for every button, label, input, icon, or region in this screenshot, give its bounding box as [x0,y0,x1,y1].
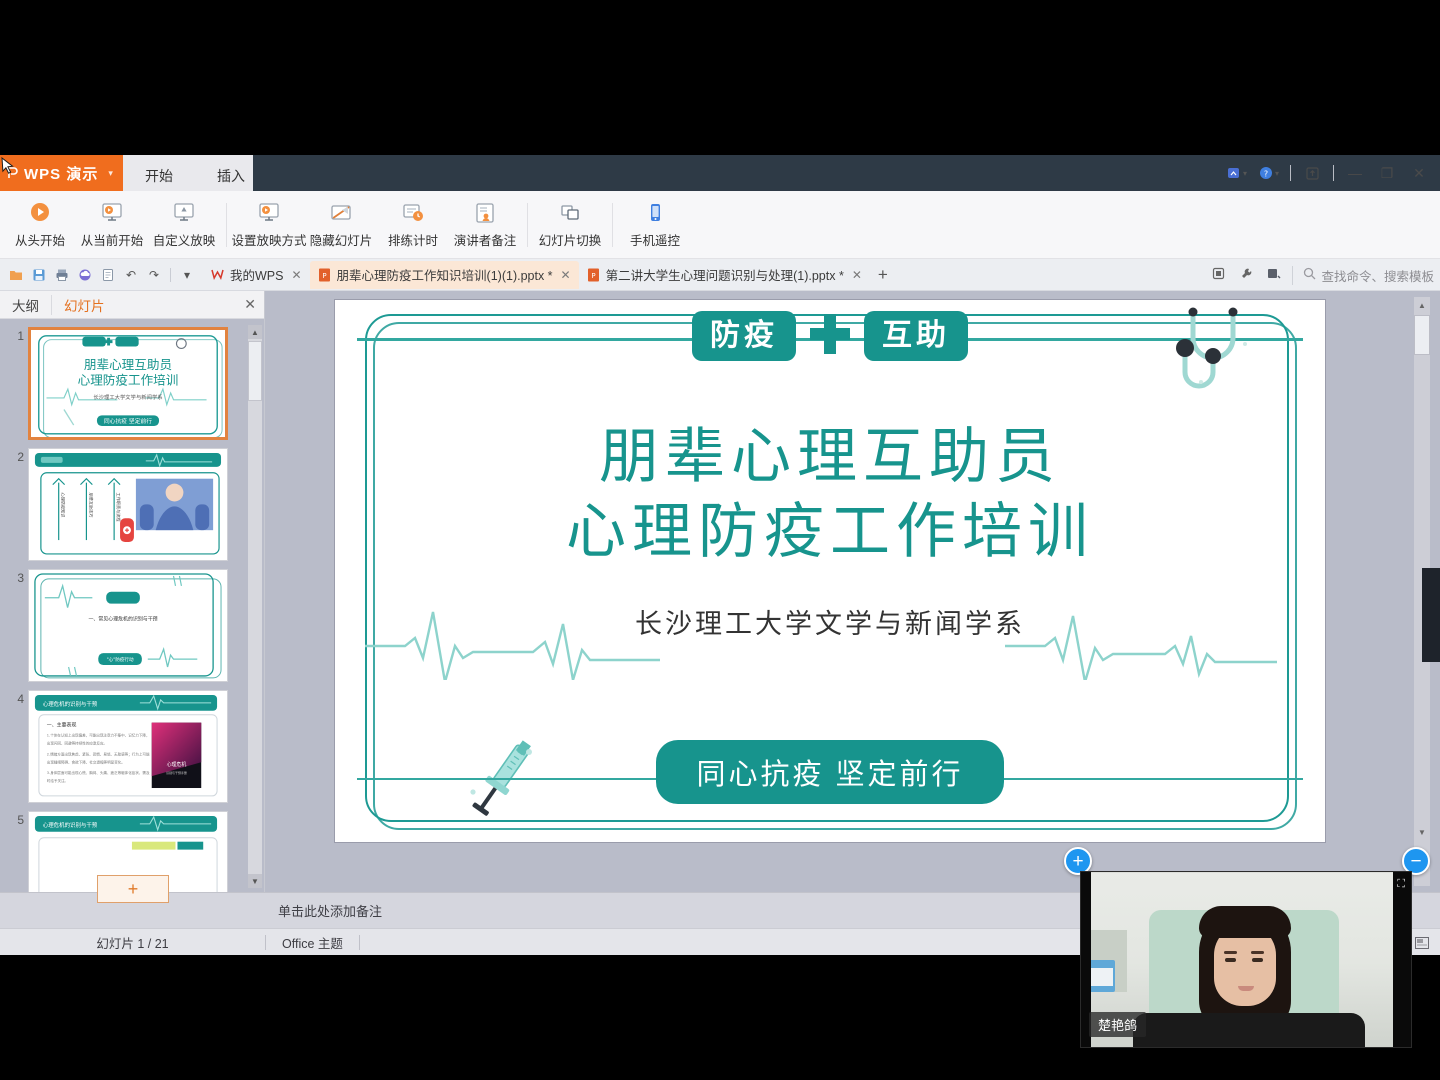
thumbnail-slide-1[interactable]: 朋辈心理互助员 心理防疫工作培训 长沙理工大学文学与新闻学系 同心抗疫 坚定前行 [28,327,228,440]
ribbon-button-hide-slide[interactable]: 隐藏幻灯片 [305,193,377,257]
tab-file-1-label: 朋辈心理防疫工作知识培训(1)(1).pptx * [337,265,553,284]
tab-slides[interactable]: 幻灯片 [51,295,117,315]
wps-presentation-window: WPS 演示 ▾ 开始 插入 ▾ ? ▾ [0,155,1440,923]
participant-video-tile[interactable]: ⛶ 楚艳鸽 [1080,871,1412,1048]
svg-text:心理危机的识别与干预: 心理危机的识别与干预 [43,700,98,708]
restore-icon[interactable]: ❐ [1372,158,1402,188]
ribbon-button-slide-transition[interactable]: 幻灯片切换 [534,193,606,257]
thumbnail-number: 1 [10,327,28,343]
pptx-file-icon: P [587,268,600,282]
background-box-label [1091,968,1113,986]
ribbon-label-custom-show: 自定义放映 [153,230,216,249]
open-icon[interactable] [6,264,26,286]
ribbon-label-from-start: 从头开始 [15,230,65,249]
close-icon[interactable]: ✕ [291,268,301,282]
svg-text:出现闪回、回避等持续性的应激反应。: 出现闪回、回避等持续性的应激反应。 [47,740,107,745]
tab-insert[interactable]: 插入 [195,161,253,191]
ribbon-button-custom-show[interactable]: 自定义放映 [148,193,220,257]
navigator-tabs: 大纲 幻灯片 ✕ [0,291,264,319]
notes-placeholder[interactable]: 单击此处添加备注 [278,901,382,920]
save-icon[interactable] [29,264,49,286]
ribbon-button-rehearse-timing[interactable]: 排练计时 [377,193,449,257]
cloud-icon[interactable] [75,264,95,286]
slide-title-line1: 朋辈心理互助员 [335,420,1325,495]
thumbnail-art-2: 心理防疫知识 朋辈互助技巧 工作职责与流程 [29,449,227,561]
phone-remote-icon [643,200,667,226]
desktop-right-band [1422,568,1440,662]
svg-text:出现睡眠障碍、食欲下降、社交退缩等明显变化。: 出现睡眠障碍、食欲下降、社交退缩等明显变化。 [47,759,125,764]
eyebrow-left [1224,951,1237,954]
ribbon-label-slide-transition: 幻灯片切换 [539,230,602,249]
slide-transition-icon [558,200,582,226]
slide-editing-stage[interactable]: 防疫 互助 [265,291,1440,892]
ribbon-label-phone-remote: 手机遥控 [630,230,680,249]
redo-icon[interactable]: ↷ [144,264,164,286]
minimize-icon[interactable]: — [1340,158,1370,188]
thumbnail-slide-3[interactable]: 一、常见心理危机的识别与干预 "心"防疫行动 [28,569,228,682]
svg-text:3.身体层面可能出现心慌、胸闷、头痛、疲乏等躯体化症状，需及: 3.身体层面可能出现心慌、胸闷、头痛、疲乏等躯体化症状，需及 [47,770,150,775]
mouse-cursor-icon [1,157,14,176]
rehearse-timing-icon [401,200,425,226]
print-icon[interactable] [52,264,72,286]
tab-file-2[interactable]: P 第二讲大学生心理问题识别与处理(1).pptx * ✕ [579,261,870,289]
scroll-down-button[interactable]: ▼ [248,874,262,888]
tab-my-wps-label: 我的WPS [230,265,283,284]
custom-show-icon [172,200,196,226]
play-from-current-icon [100,200,124,226]
tab-file-2-label: 第二讲大学生心理问题识别与处理(1).pptx * [606,265,844,284]
thumbnail-scrollbar[interactable]: ▲ ▼ [248,325,262,888]
eye-right [1252,958,1263,962]
svg-text:心理防疫工作培训: 心理防疫工作培训 [78,372,179,387]
svg-text:长沙理工大学文学与新闻学系: 长沙理工大学文学与新闻学系 [93,393,162,401]
thumbnails: 1 朋辈心理互助员 心理防疫工作培训 [0,327,264,892]
tab-outline[interactable]: 大纲 [0,295,51,315]
chip-huzhu: 互助 [864,311,968,361]
thumbnail-number: 2 [10,448,28,464]
thumbnail-slide-2[interactable]: 心理防疫知识 朋辈互助技巧 工作职责与流程 [28,448,228,561]
bottom-banner: 同心抗疫 坚定前行 [335,740,1325,804]
ribbon-button-setup-show[interactable]: 设置放映方式 [233,193,305,257]
letterbox-top [0,0,1440,155]
app-name: WPS 演示 [24,163,98,184]
ribbon-button-phone-remote[interactable]: 手机遥控 [619,193,691,257]
ribbon-label-hide-slide: 隐藏幻灯片 [310,230,373,249]
ribbon-label-presenter-notes: 演讲者备注 [454,230,517,249]
doc-tools-icon[interactable] [1264,267,1284,283]
svg-text:2.情绪方面出现焦虑、紧张、恐惧、易怒、无助感等；行为上可能: 2.情绪方面出现焦虑、紧张、恐惧、易怒、无助感等；行为上可能 [47,751,150,756]
svg-text:同心抗疫 坚定前行: 同心抗疫 坚定前行 [104,417,152,425]
stage-scrollbar-thumb[interactable] [1414,315,1430,355]
participant-shoulders [1133,1013,1365,1047]
theme-name[interactable]: Office 主题 [266,933,359,952]
hair-front [1199,906,1291,938]
thumbnail-art-4: 心理危机的识别与干预 一、主要表现 1.个体在认知上出现偏差，可能出现注意力不集… [29,691,227,803]
slide-title-line2: 心理防疫工作培训 [335,495,1325,570]
search-placeholder: 查找命令、搜索模板 [1321,266,1434,285]
thumbnail-item[interactable]: 4 心理危机的识别与干预 一、主要表现 [10,690,264,803]
tools-icon[interactable] [1236,267,1256,283]
chip-fangyi: 防疫 [692,311,796,361]
qat-divider [170,268,171,282]
scroll-up-button[interactable]: ▲ [248,325,262,339]
thumbnail-art-1: 朋辈心理互助员 心理防疫工作培训 长沙理工大学文学与新闻学系 同心抗疫 坚定前行 [31,330,225,440]
thumbnail-item[interactable]: 1 朋辈心理互助员 心理防疫工作培训 [10,327,264,440]
svg-text:朋辈心理互助员: 朋辈心理互助员 [84,357,172,372]
ribbon-label-from-current: 从当前开始 [81,230,144,249]
title-bar-left: WPS 演示 ▾ 开始 插入 [0,155,126,191]
status-divider-2 [359,935,360,950]
qat-caret-icon[interactable]: ▾ [177,264,197,286]
close-icon[interactable]: ✕ [852,268,862,282]
tab-start[interactable]: 开始 [123,161,195,191]
hide-slide-icon [329,200,353,226]
reading-view-icon[interactable] [1410,933,1434,953]
undo-icon[interactable]: ↶ [121,264,141,286]
play-icon [28,200,52,226]
help-icon[interactable]: ? ▾ [1254,158,1284,188]
svg-text:P: P [591,272,595,280]
close-icon[interactable]: ✕ [244,296,256,313]
svg-text:心理危机: 心理危机 [167,761,187,768]
thumbnail-slide-4[interactable]: 心理危机的识别与干预 一、主要表现 1.个体在认知上出现偏差，可能出现注意力不集… [28,690,228,803]
thumbnail-item[interactable]: 3 一、常见心理危机的识别与干预 " [10,569,264,682]
export-pdf-icon[interactable] [98,264,118,286]
svg-text:"心"防疫行动: "心"防疫行动 [107,656,134,663]
current-slide[interactable]: 防疫 互助 [335,300,1325,842]
stage-scroll-down-button[interactable]: ▼ [1414,824,1430,840]
svg-text:?: ? [1264,169,1268,178]
ribbon-label-setup-show: 设置放映方式 [232,230,307,249]
svg-text:1.个体在认知上出现偏差，可能出现注意力不集中、记忆力下降，: 1.个体在认知上出现偏差，可能出现注意力不集中、记忆力下降， [47,733,150,738]
video-letterbox-right [1393,872,1411,1047]
svg-text:一、主要表现: 一、主要表现 [47,722,77,729]
new-tab-button[interactable]: + [870,265,896,285]
thumbnail-art-3: 一、常见心理危机的识别与干预 "心"防疫行动 [29,570,227,682]
workspace: 大纲 幻灯片 ✕ 1 [0,291,1440,892]
slide-counter: 幻灯片 1 / 21 [0,933,265,952]
svg-text:P: P [322,272,326,280]
expand-icon[interactable]: ⛶ [1397,878,1405,891]
banner-text[interactable]: 同心抗疫 坚定前行 [656,740,1003,804]
backup-icon[interactable] [1208,267,1228,283]
mouth [1238,986,1254,991]
thumbnail-number: 3 [10,569,28,585]
ribbon-divider-3 [612,203,613,247]
svg-text:心理危机的识别与干预: 心理危机的识别与干预 [43,821,98,829]
window-controls: ▾ ? ▾ — ❐ ✕ [1222,155,1440,191]
close-icon[interactable]: ✕ [561,268,571,282]
eye-left [1225,958,1236,962]
thumbnail-number: 4 [10,690,28,706]
app-menu-caret-icon[interactable]: ▾ [108,168,114,179]
stethoscope-icon [1167,306,1263,416]
upload-icon[interactable] [1297,158,1327,188]
screen-root: WPS 演示 ▾ 开始 插入 ▾ ? ▾ [0,0,1440,1080]
thumbnail-item[interactable]: 2 [10,448,264,561]
ribbon-toolbar: 从头开始 从当前开始 自定义放映 设置放映方式 [0,191,1440,259]
ribbon-label-rehearse-timing: 排练计时 [388,230,438,249]
share-icon[interactable]: ▾ [1222,158,1252,188]
ribbon-button-from-current[interactable]: 从当前开始 [76,193,148,257]
search-icon [1303,267,1316,283]
setup-show-icon [257,200,281,226]
ribbon-divider-1 [226,203,227,247]
eyebrow-right [1251,951,1264,954]
scrollbar-thumb[interactable] [248,341,262,401]
presenter-notes-icon [473,200,497,226]
slide-thumbnail-list[interactable]: 1 朋辈心理互助员 心理防疫工作培训 [0,319,264,892]
close-icon[interactable]: ✕ [1404,158,1434,188]
stage-scroll-up-button[interactable]: ▲ [1414,297,1430,313]
ribbon-button-presenter-notes[interactable]: 演讲者备注 [449,193,521,257]
wps-home-icon [211,268,224,282]
thumbnail-number: 5 [10,811,28,827]
tab-my-wps[interactable]: 我的WPS ✕ [203,261,310,289]
pptx-file-icon: P [318,268,331,282]
ribbon-divider-2 [527,203,528,247]
svg-text:一、常见心理危机的识别与干预: 一、常见心理危机的识别与干预 [88,615,157,622]
slide-subtitle[interactable]: 长沙理工大学文学与新闻学系 [335,602,1325,641]
window-controls-divider-2 [1333,165,1334,181]
slide-navigator-panel: 大纲 幻灯片 ✕ 1 [0,291,265,892]
svg-text:心理防疫知识: 心理防疫知识 [61,493,67,518]
tab-strip-right-tools: 查找命令、搜索模板 [1208,259,1434,291]
file-tab-strip: ↶ ↷ ▾ 我的WPS ✕ P 朋辈心理防疫工作知识培训(1)(1 [0,259,1440,291]
quick-access-toolbar: ↶ ↷ ▾ [0,264,197,286]
window-controls-divider [1290,165,1291,181]
title-bar: WPS 演示 ▾ 开始 插入 ▾ ? ▾ [0,155,1440,191]
tab-file-1[interactable]: P 朋辈心理防疫工作知识培训(1)(1).pptx * ✕ [310,261,579,289]
app-logo-badge[interactable]: WPS 演示 ▾ [0,155,126,191]
document-tabs: 我的WPS ✕ P 朋辈心理防疫工作知识培训(1)(1).pptx * ✕ P … [203,259,896,291]
svg-text:朋辈互助技巧: 朋辈互助技巧 [88,493,94,518]
participant-name-label: 楚艳鸽 [1089,1012,1146,1037]
search-box[interactable]: 查找命令、搜索模板 [1292,266,1434,285]
svg-text:工作职责与流程: 工作职责与流程 [116,493,122,522]
ribbon-button-from-start[interactable]: 从头开始 [4,193,76,257]
svg-text:识别与干预手册: 识别与干预手册 [166,770,187,775]
ribbon-tab-strip: 开始 插入 [123,155,253,191]
plus-sign-icon [802,306,858,366]
slide-title[interactable]: 朋辈心理互助员 心理防疫工作培训 [335,420,1325,570]
svg-text:时给予关注。: 时给予关注。 [47,778,68,783]
new-slide-button[interactable]: + [97,875,169,903]
